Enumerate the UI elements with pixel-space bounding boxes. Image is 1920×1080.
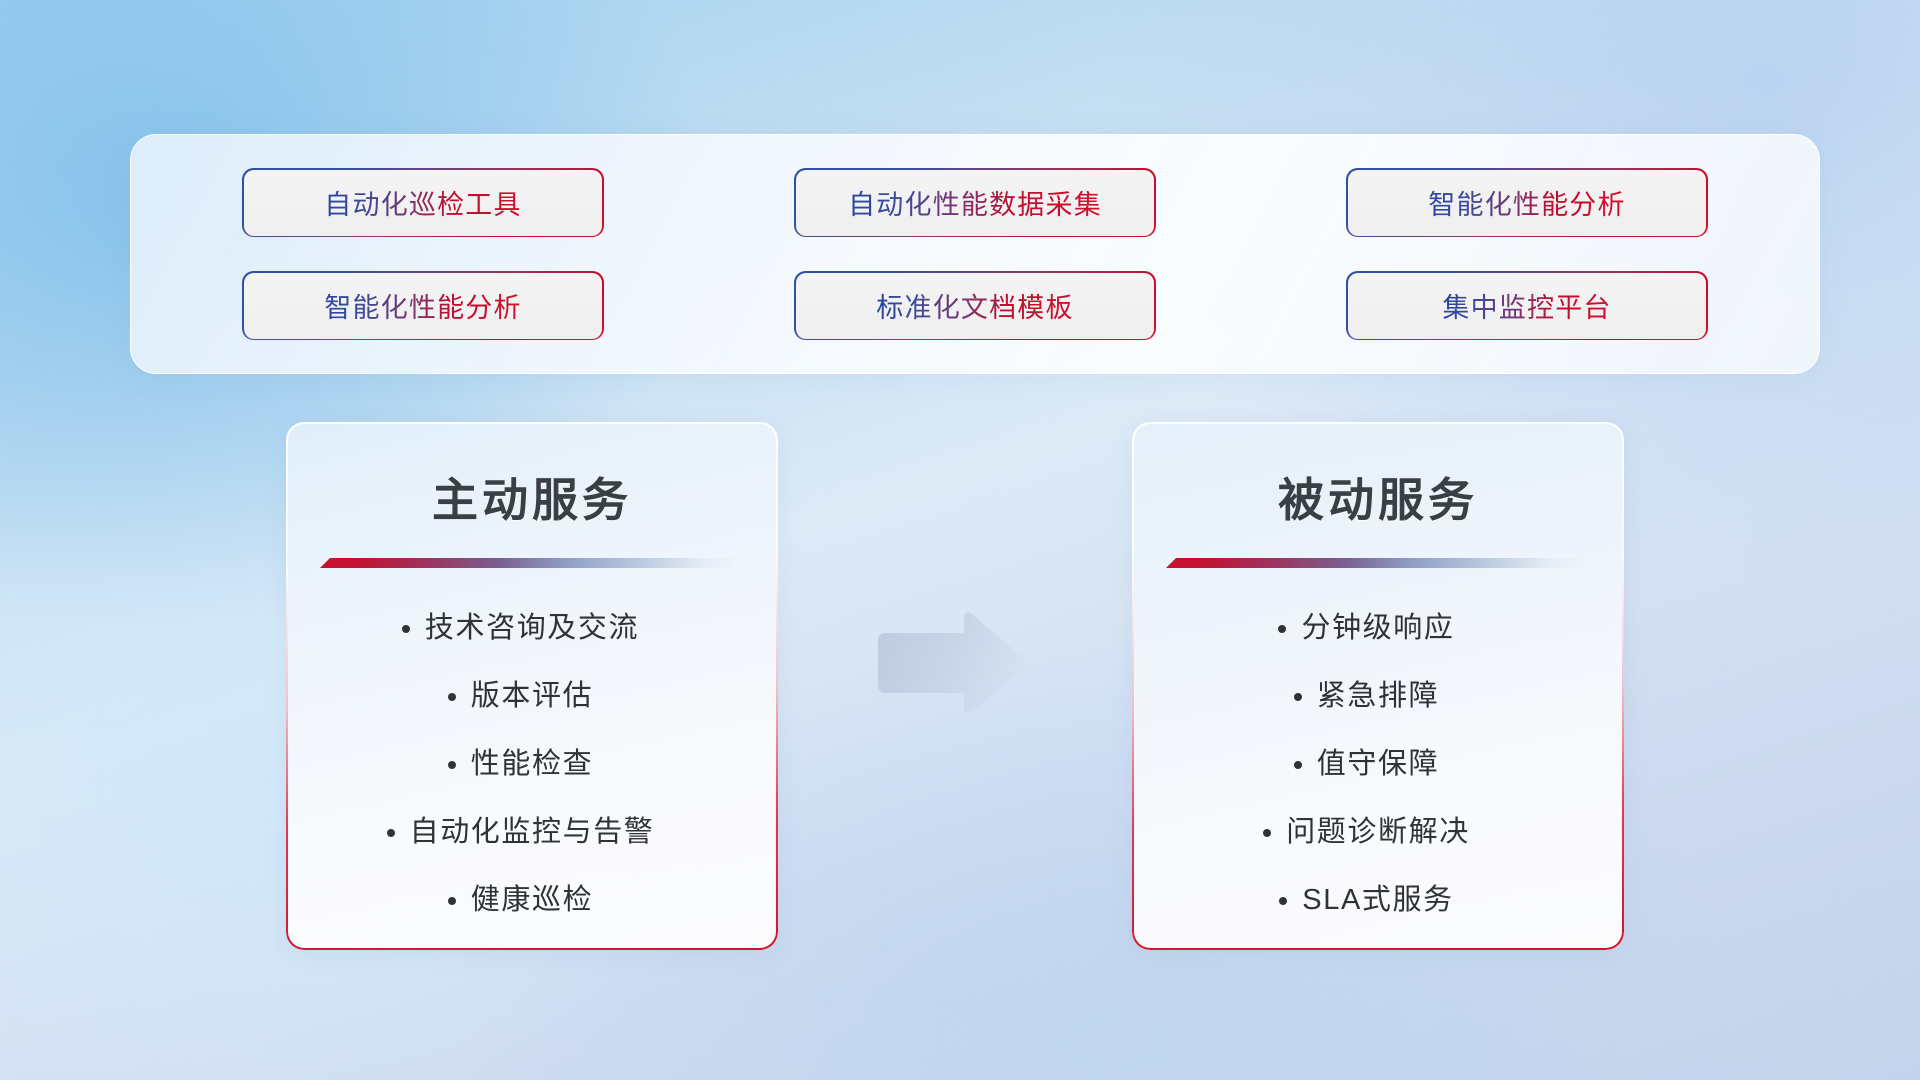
list-item: 紧急排障 — [1317, 672, 1439, 714]
capability-chip-2[interactable]: 自动化性能数据采集 — [796, 170, 1154, 236]
capability-chip-grid: 自动化巡检工具 自动化性能数据采集 智能化性能分析 智能化性能分析 标准化文档模… — [131, 135, 1819, 373]
list-item: 自动化监控与告警 — [410, 808, 655, 850]
list-item: 性能检查 — [471, 740, 593, 782]
capability-chip-4[interactable]: 智能化性能分析 — [244, 273, 602, 339]
capability-panel: 自动化巡检工具 自动化性能数据采集 智能化性能分析 智能化性能分析 标准化文档模… — [130, 134, 1820, 374]
card-divider — [320, 558, 744, 568]
right-arrow-icon — [868, 608, 1028, 718]
capability-chip-6[interactable]: 集中监控平台 — [1348, 273, 1706, 339]
list-item: 技术咨询及交流 — [425, 604, 639, 646]
capability-chip-label: 自动化性能数据采集 — [848, 183, 1102, 222]
card-title: 被动服务 — [1132, 464, 1624, 530]
capability-chip-label: 自动化巡检工具 — [324, 183, 521, 222]
service-card-reactive: 被动服务 分钟级响应 紧急排障 值守保障 问题诊断解决 SLA式服务 — [1132, 422, 1624, 950]
card-item-list: 分钟级响应 紧急排障 值守保障 问题诊断解决 SLA式服务 — [1132, 604, 1624, 918]
card-title: 主动服务 — [286, 464, 778, 530]
list-item: 值守保障 — [1317, 740, 1439, 782]
list-item: 问题诊断解决 — [1286, 808, 1470, 850]
list-item: 分钟级响应 — [1301, 604, 1454, 646]
capability-chip-label: 智能化性能分析 — [1428, 183, 1625, 222]
divider-gradient-bar — [320, 558, 744, 568]
capability-chip-1[interactable]: 自动化巡检工具 — [244, 170, 602, 236]
service-card-proactive: 主动服务 技术咨询及交流 版本评估 性能检查 自动化监控与告警 健康巡检 — [286, 422, 778, 950]
capability-chip-3[interactable]: 智能化性能分析 — [1348, 170, 1706, 236]
card-divider — [1166, 558, 1590, 568]
divider-gradient-bar — [1166, 558, 1590, 568]
card-item-list: 技术咨询及交流 版本评估 性能检查 自动化监控与告警 健康巡检 — [286, 604, 778, 918]
capability-chip-5[interactable]: 标准化文档模板 — [796, 273, 1154, 339]
capability-chip-label: 集中监控平台 — [1442, 286, 1611, 325]
capability-chip-label: 智能化性能分析 — [324, 286, 521, 325]
list-item: SLA式服务 — [1302, 876, 1453, 918]
list-item: 版本评估 — [471, 672, 593, 714]
list-item: 健康巡检 — [471, 876, 593, 918]
capability-chip-label: 标准化文档模板 — [876, 286, 1073, 325]
